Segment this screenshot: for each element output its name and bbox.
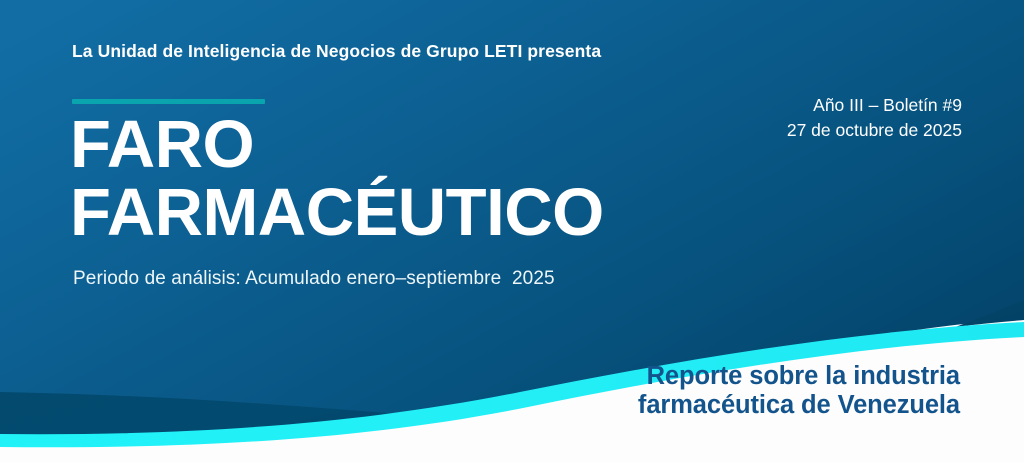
- report-subtitle-line-1: Reporte sobre la industria: [638, 362, 960, 391]
- issue-number-text: Año III – Boletín #9: [787, 93, 962, 118]
- issue-date-text: 27 de octubre de 2025: [787, 118, 962, 143]
- kicker-text: La Unidad de Inteligencia de Negocios de…: [72, 41, 601, 62]
- report-subtitle: Reporte sobre la industria farmacéutica …: [638, 362, 960, 420]
- masthead-line-1: FARO: [70, 111, 604, 179]
- issue-info-block: Año III – Boletín #9 27 de octubre de 20…: [787, 93, 962, 143]
- masthead-title: FARO FARMACÉUTICO: [70, 111, 604, 247]
- report-subtitle-line-2: farmacéutica de Venezuela: [638, 391, 960, 420]
- teal-accent-bar: [72, 99, 265, 104]
- newsletter-banner: La Unidad de Inteligencia de Negocios de…: [0, 0, 1024, 462]
- masthead-line-2: FARMACÉUTICO: [70, 179, 604, 247]
- analysis-period-text: Periodo de análisis: Acumulado enero–sep…: [73, 268, 555, 290]
